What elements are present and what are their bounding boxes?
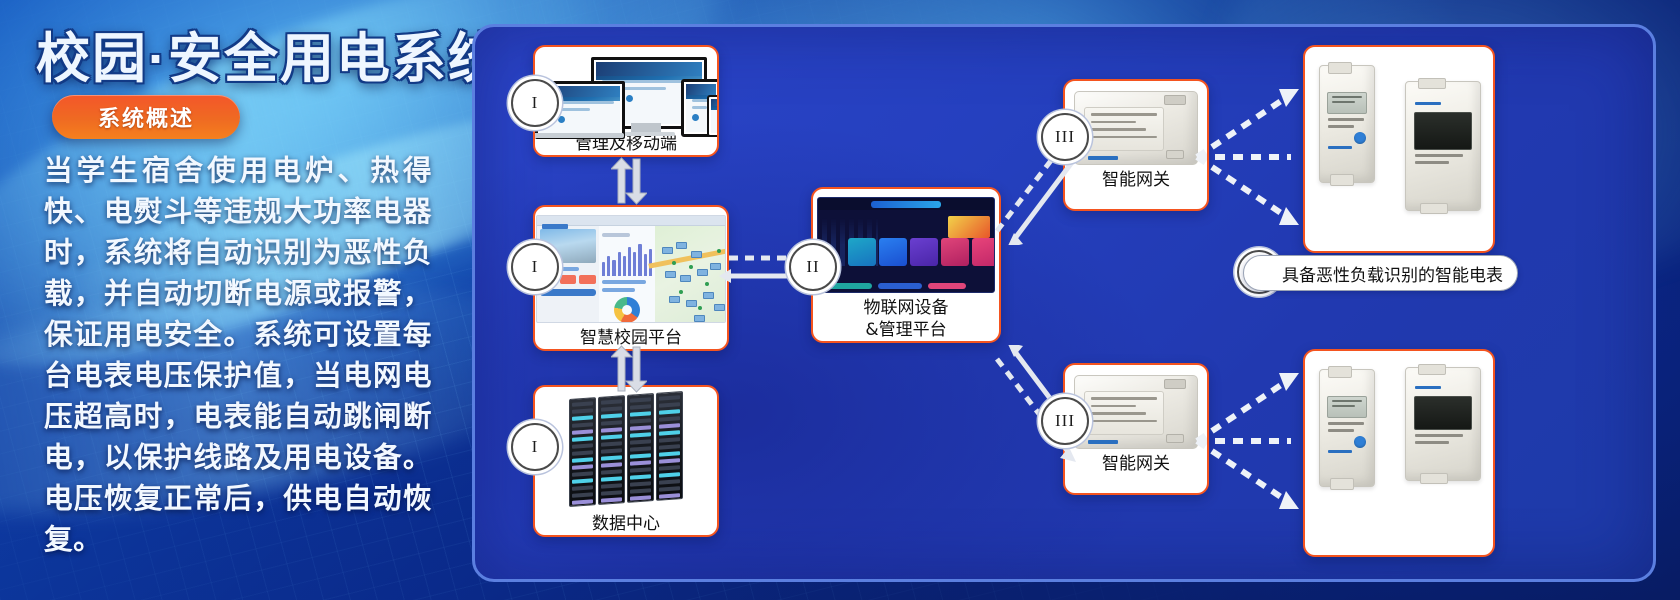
- bidirectional-arrow-icon: [611, 157, 647, 205]
- node-label-line1: 物联网设备: [813, 297, 999, 319]
- step-badge-4: II: [789, 243, 837, 291]
- step-badge-6: III: [1041, 397, 1089, 445]
- three-phase-lcd-meter-icon: [1405, 367, 1481, 481]
- node-smart-campus[interactable]: 智慧校园平台: [533, 205, 729, 351]
- node-label: 数据中心: [535, 513, 717, 535]
- devices-icon: [535, 57, 719, 129]
- architecture-diagram-panel: 管理及移动端 I: [472, 24, 1656, 582]
- single-phase-din-meter-icon: [1319, 65, 1375, 183]
- overview-column: 校园·安全用电系统 系统概述 当学生宿舍使用电炉、热得快、电熨斗等违规大功率电器…: [0, 0, 470, 600]
- dashed-fan-arrow-icon: [1191, 71, 1311, 241]
- meter-panel-top[interactable]: [1303, 45, 1495, 253]
- section-tag-label: 系统概述: [98, 101, 194, 133]
- node-data-center[interactable]: 数据中心: [533, 385, 719, 537]
- node-label-line2: &管理平台: [813, 319, 999, 341]
- server-rack-icon: [569, 391, 683, 507]
- step-badge-1: I: [511, 79, 559, 127]
- node-management-mobile[interactable]: 管理及移动端: [533, 45, 719, 157]
- single-phase-din-meter-icon: [1319, 369, 1375, 487]
- three-phase-lcd-meter-icon: [1405, 81, 1481, 211]
- poster-canvas: 校园·安全用电系统 系统概述 当学生宿舍使用电炉、热得快、电熨斗等违规大功率电器…: [0, 0, 1680, 600]
- iv-callout-label[interactable]: 具备恶性负载识别的智能电表: [1243, 255, 1518, 291]
- overview-body-text: 当学生宿舍使用电炉、热得快、电熨斗等违规大功率电器时，系统将自动识别为恶性负载，…: [44, 150, 432, 560]
- iv-callout-text: 具备恶性负载识别的智能电表: [1282, 261, 1503, 286]
- section-tag-badge: 系统概述: [52, 95, 240, 139]
- node-iot-platform[interactable]: 物联网设备 &管理平台: [811, 187, 1001, 343]
- step-badge-3: I: [511, 423, 559, 471]
- bidirectional-arrow-icon: [611, 345, 647, 393]
- dashed-fan-arrow-icon: [1191, 355, 1311, 525]
- dashboard-map-icon: [536, 215, 726, 323]
- step-badge-2: I: [511, 243, 559, 291]
- step-badge-5: III: [1041, 113, 1089, 161]
- meter-panel-bottom[interactable]: [1303, 349, 1495, 557]
- iot-dashboard-icon: [817, 197, 995, 293]
- page-title: 校园·安全用电系统: [36, 14, 504, 93]
